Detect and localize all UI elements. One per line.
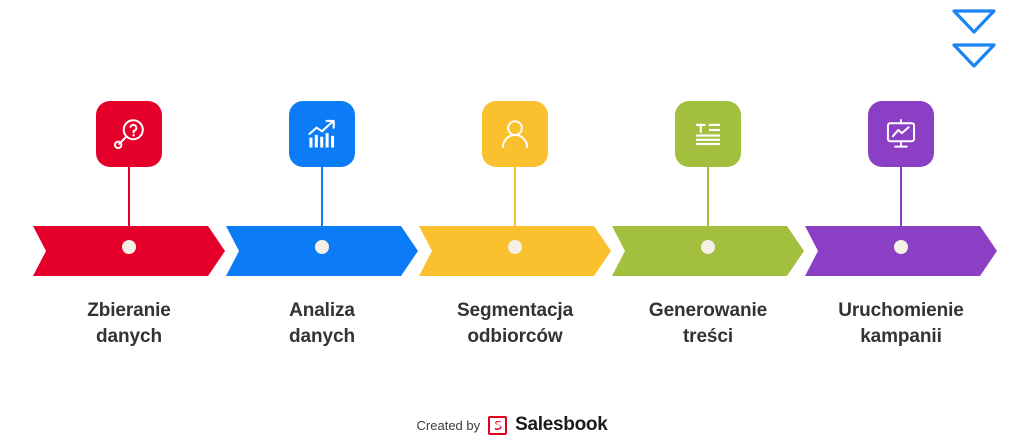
step-2-label-line1: Analiza — [289, 300, 355, 321]
footer-created-by-text: Created by — [417, 418, 481, 433]
step-3-label-line2: odbiorców — [419, 324, 611, 350]
step-1-connector — [128, 167, 130, 226]
step-1-icon-tile[interactable] — [96, 101, 162, 167]
process-step-4[interactable]: Generowanie treści — [612, 0, 804, 380]
process-step-1[interactable]: Zbieranie danych — [33, 0, 225, 380]
step-3-icon-tile[interactable] — [482, 101, 548, 167]
process-steps: Zbieranie danych — [0, 0, 1024, 380]
step-3-label: Segmentacja odbiorców — [419, 298, 611, 350]
step-2-label-line2: danych — [226, 324, 418, 350]
step-5-chevron-bar[interactable] — [805, 226, 997, 276]
person-user-icon — [497, 116, 533, 152]
infographic-canvas: Zbieranie danych — [0, 0, 1024, 446]
step-2-chevron-bar[interactable] — [226, 226, 418, 276]
salesbook-brand-text: Salesbook — [515, 414, 607, 436]
step-2-label: Analiza danych — [226, 298, 418, 350]
step-4-chevron-bar[interactable] — [612, 226, 804, 276]
step-5-label-line2: kampanii — [805, 324, 997, 350]
step-3-chevron-bar[interactable] — [419, 226, 611, 276]
magnifier-question-icon — [110, 115, 148, 153]
step-5-bar-dot — [894, 240, 908, 254]
bar-chart-growth-icon — [304, 116, 340, 152]
step-2-icon-tile[interactable] — [289, 101, 355, 167]
step-4-label-line2: treści — [612, 324, 804, 350]
step-4-bar-dot — [701, 240, 715, 254]
step-3-connector — [514, 167, 516, 226]
step-3-label-line1: Segmentacja — [457, 300, 573, 321]
presentation-chart-icon — [883, 116, 919, 152]
step-4-label-line1: Generowanie — [649, 300, 767, 321]
step-4-icon-tile[interactable] — [675, 101, 741, 167]
step-3-bar-dot — [508, 240, 522, 254]
step-5-label: Uruchomienie kampanii — [805, 298, 997, 350]
step-5-icon-tile[interactable] — [868, 101, 934, 167]
step-1-bar-dot — [122, 240, 136, 254]
step-1-label-line1: Zbieranie — [87, 300, 171, 321]
process-step-5[interactable]: Uruchomienie kampanii — [805, 0, 997, 380]
text-document-lines-icon — [691, 117, 725, 151]
step-5-label-line1: Uruchomienie — [838, 300, 964, 321]
process-step-2[interactable]: Analiza danych — [226, 0, 418, 380]
step-4-label: Generowanie treści — [612, 298, 804, 350]
process-step-3[interactable]: Segmentacja odbiorców — [419, 0, 611, 380]
step-1-chevron-bar[interactable] — [33, 226, 225, 276]
salesbook-s-icon — [488, 416, 507, 435]
footer-credit: Created by Salesbook — [0, 414, 1024, 436]
step-1-label-line2: danych — [33, 324, 225, 350]
step-1-label: Zbieranie danych — [33, 298, 225, 350]
step-2-connector — [321, 167, 323, 226]
step-2-bar-dot — [315, 240, 329, 254]
step-4-connector — [707, 167, 709, 226]
step-5-connector — [900, 167, 902, 226]
